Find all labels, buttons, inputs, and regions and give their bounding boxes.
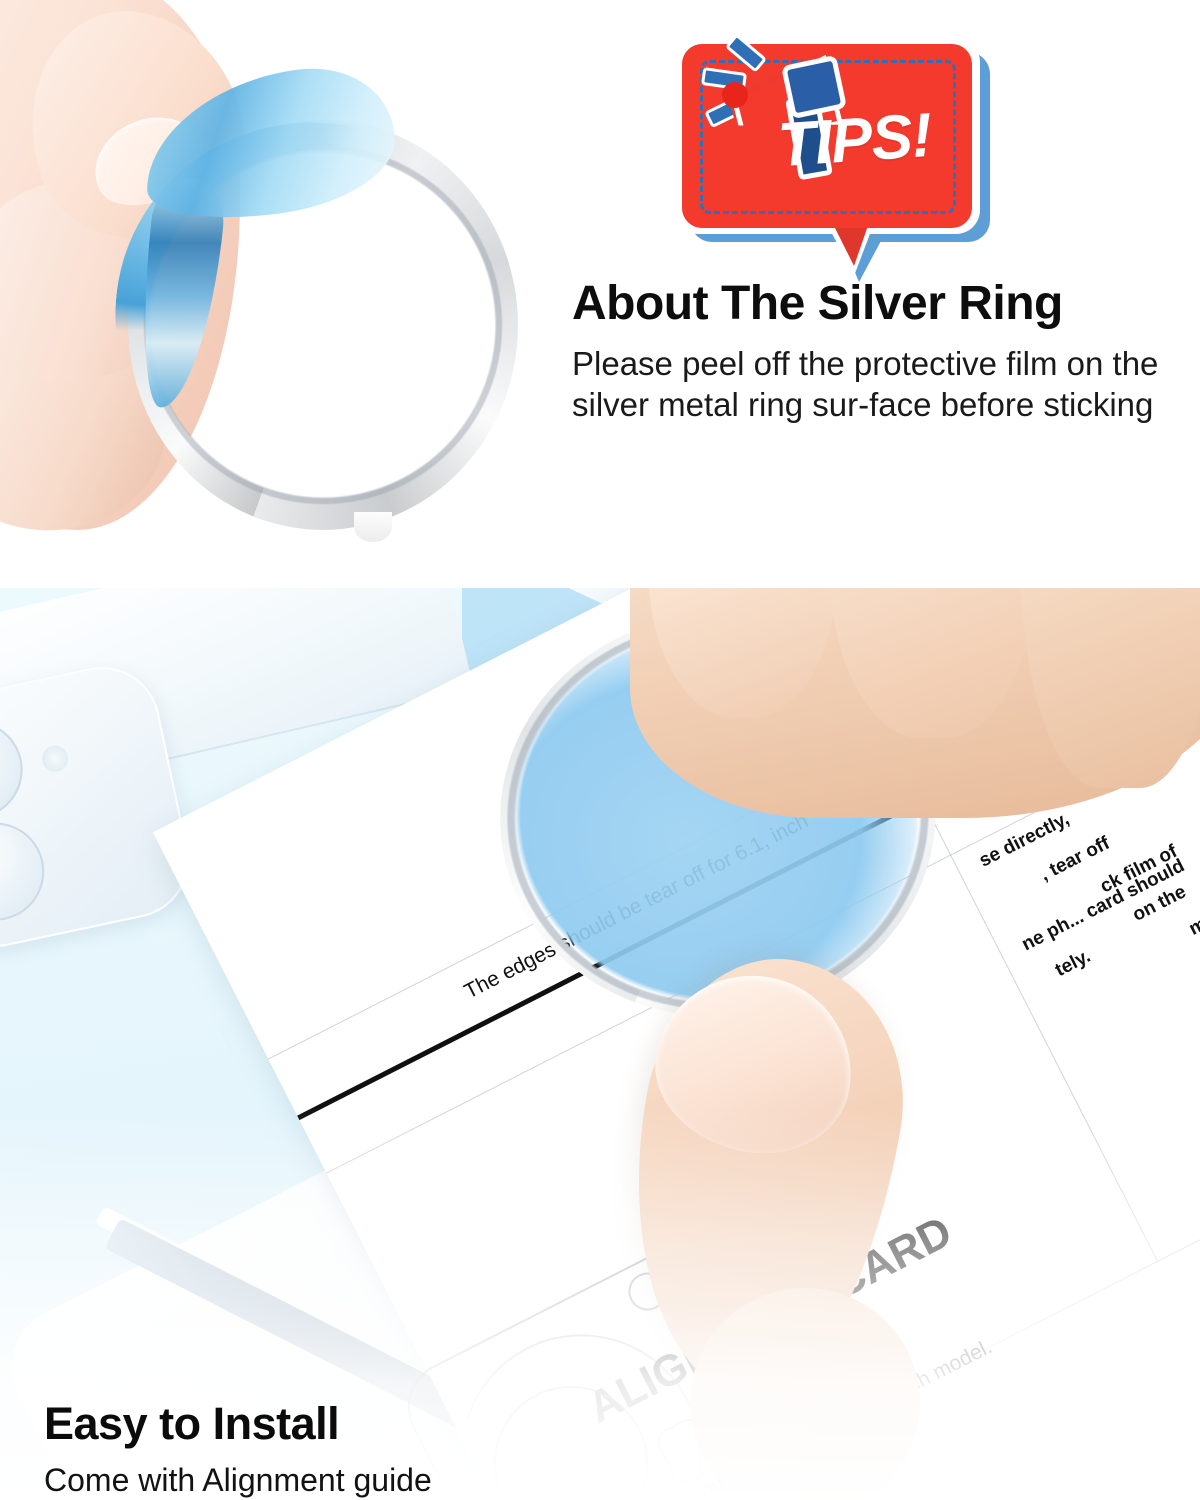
- card-side-text-4: tely.: [1052, 946, 1095, 982]
- tips-badge: TIPS!: [656, 22, 1008, 270]
- bottom-body-text: Come with Alignment guide Makes installa…: [44, 1461, 464, 1500]
- silver-ring-peel-photo: [0, 0, 560, 588]
- bottom-panel: The edges should be tear off for 6.1, in…: [0, 588, 1200, 1500]
- top-body-text: Please peel off the protective film on t…: [572, 343, 1178, 426]
- tips-badge-label: TIPS!: [776, 105, 933, 178]
- top-heading: About The Silver Ring: [572, 278, 1178, 331]
- card-side-text-7: ment card.: [1186, 877, 1200, 940]
- bottom-heading: Easy to Install: [44, 1400, 464, 1449]
- product-infographic-page: TIPS! About The Silver Ring Please peel …: [0, 0, 1200, 1500]
- ring-pull-tab: [354, 512, 392, 542]
- bottom-copy-block: Easy to Install Come with Alignment guid…: [44, 1400, 464, 1500]
- camera-lens-top: [0, 712, 32, 828]
- sound-line-1: [725, 33, 767, 73]
- silver-ring-group: [128, 120, 518, 530]
- top-panel: TIPS! About The Silver Ring Please peel …: [0, 0, 1200, 588]
- camera-flash: [40, 743, 71, 774]
- top-copy-block: About The Silver Ring Please peel off th…: [572, 278, 1178, 425]
- camera-lens-bottom: [0, 813, 53, 929]
- megaphone-tip: [722, 82, 748, 108]
